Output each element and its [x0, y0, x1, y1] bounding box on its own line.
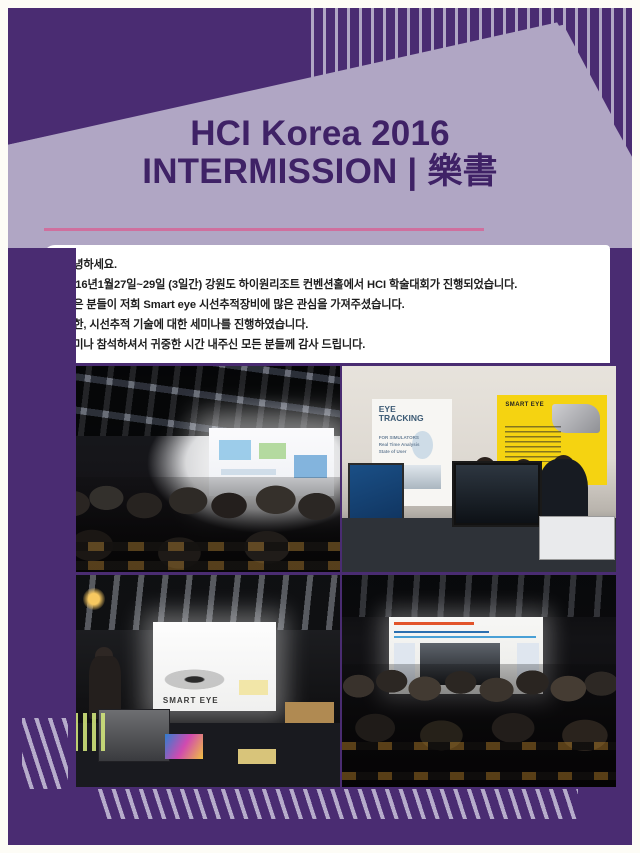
greeting-line: 2016년1월27일~29일 (3일간) 강원도 하이원리조트 컨벤션홀에서 H… [63, 276, 610, 296]
page-title: HCI Korea 2016 INTERMISSION | 樂書 [8, 116, 632, 189]
chair-row [48, 542, 340, 551]
greeting-text-block: 안녕하세요. 2016년1월27일~29일 (3일간) 강원도 하이원리조트 컨… [43, 245, 610, 363]
slide-title-text: SMART EYE [163, 696, 219, 705]
demo-monitor [452, 461, 542, 527]
chair-row [342, 772, 618, 780]
slide-text-rule [394, 631, 490, 633]
slide-highlight-block [239, 680, 268, 694]
right-purple-band [616, 248, 632, 845]
ceiling-lamp [83, 588, 105, 610]
poster-title-text: EYETRACKING [379, 405, 424, 423]
title-line-2: INTERMISSION | 樂書 [8, 154, 632, 190]
slide-header-rule [394, 622, 474, 625]
banner-body-lines [505, 426, 560, 462]
greeting-line: 또한, 시선추적 기술에 대한 세미나를 진행하였습니다. [63, 316, 610, 336]
header-banner: HCI Korea 2016 INTERMISSION | 樂書 [8, 8, 632, 248]
pink-divider-rule [44, 228, 484, 231]
booklets-stack [238, 749, 276, 764]
purple-frame: HCI Korea 2016 INTERMISSION | 樂書 안녕하세요. … [8, 8, 632, 845]
slide-eye-graphic [160, 668, 229, 691]
slide-graphic [221, 469, 276, 476]
newsletter-page: HCI Korea 2016 INTERMISSION | 樂書 안녕하세요. … [0, 0, 640, 853]
slide-graphic [259, 443, 287, 459]
photo-audience-demo [342, 575, 618, 787]
photo-conference-hall [48, 366, 340, 572]
photo-grid: SMART EYE EYETRACKING FOR SIMULATORSReal… [48, 366, 616, 788]
demo-laptop [539, 516, 616, 559]
audience-silhouettes [48, 477, 340, 572]
laptop-screen [165, 734, 203, 759]
audience-silhouettes [342, 664, 618, 787]
projection-screen: SMART EYE [153, 622, 276, 711]
left-purple-band [8, 248, 76, 845]
greeting-line: 세미나 참석하셔서 귀중한 시간 내주신 모든 분들께 감사 드립니다. [63, 336, 610, 356]
bottom-purple-band [8, 789, 632, 845]
chair-row [342, 742, 618, 750]
slide-graphic [219, 440, 252, 460]
slide-text-rule [394, 636, 536, 638]
ceiling-texture [48, 366, 340, 436]
poster-sub-text: FOR SIMULATORSReal Time AnalysisState of… [379, 435, 420, 455]
photo-seminar-presenter: SMART EYE [48, 575, 340, 787]
greeting-line: 많은 분들이 저희 Smart eye 시선추적장비에 많은 관심을 가져주셨습… [63, 296, 610, 316]
bottom-diagonal-stripes [98, 789, 578, 819]
banner-title-text: SMART EYE [505, 402, 544, 408]
greeting-line: 안녕하세요. [63, 256, 610, 276]
ceiling-texture [342, 575, 618, 617]
photo-exhibition-booth: SMART EYE EYETRACKING FOR SIMULATORSReal… [342, 366, 618, 572]
water-bottles [74, 713, 109, 751]
content-card: 안녕하세요. 2016년1월27일~29일 (3일간) 강원도 하이원리조트 컨… [43, 245, 610, 363]
chair-row [48, 561, 340, 570]
title-line-1: HCI Korea 2016 [8, 116, 632, 152]
slide-graphic [294, 455, 327, 478]
